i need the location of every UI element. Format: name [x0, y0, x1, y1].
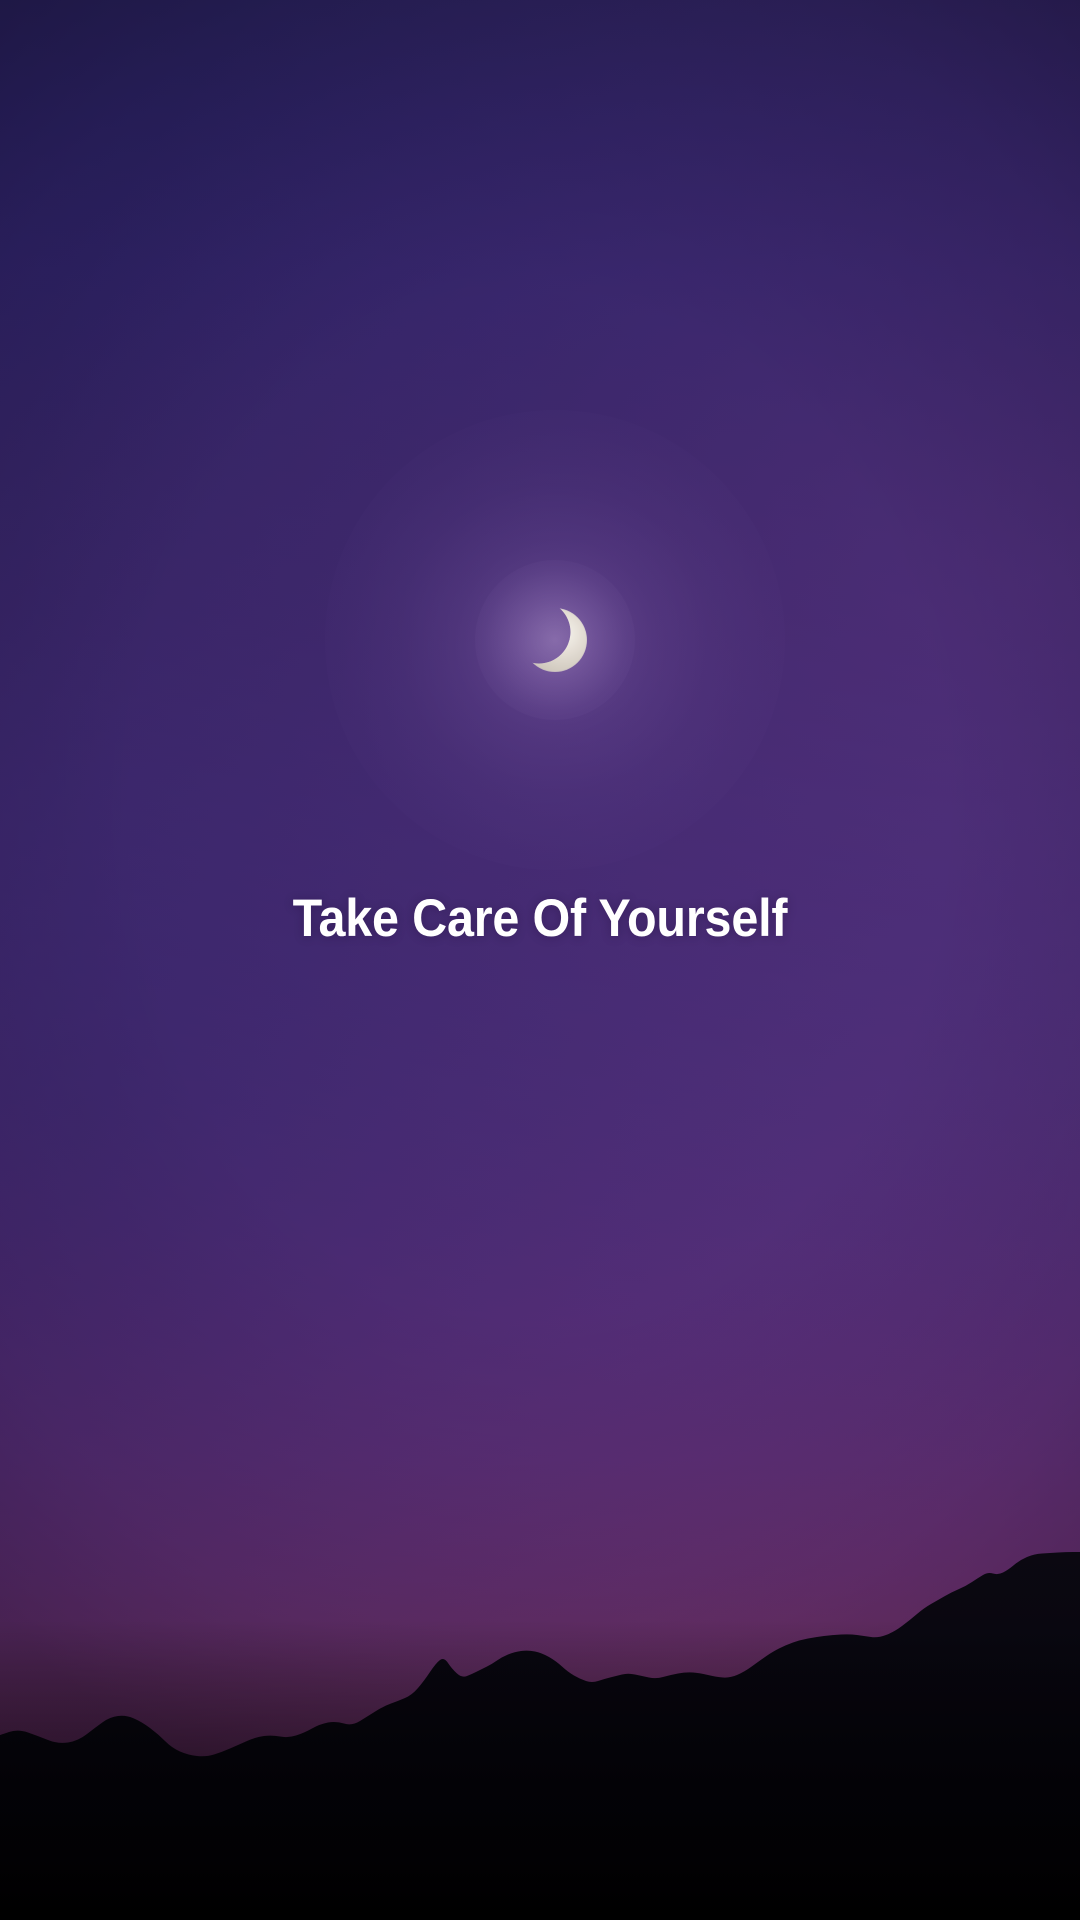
mountain-ridge-silhouette — [0, 1500, 1080, 1920]
page-title: Take Care Of Yourself — [46, 886, 1034, 952]
wallpaper-canvas: Take Care Of Yourself — [0, 0, 1080, 1920]
crescent-moon-icon — [495, 580, 615, 700]
